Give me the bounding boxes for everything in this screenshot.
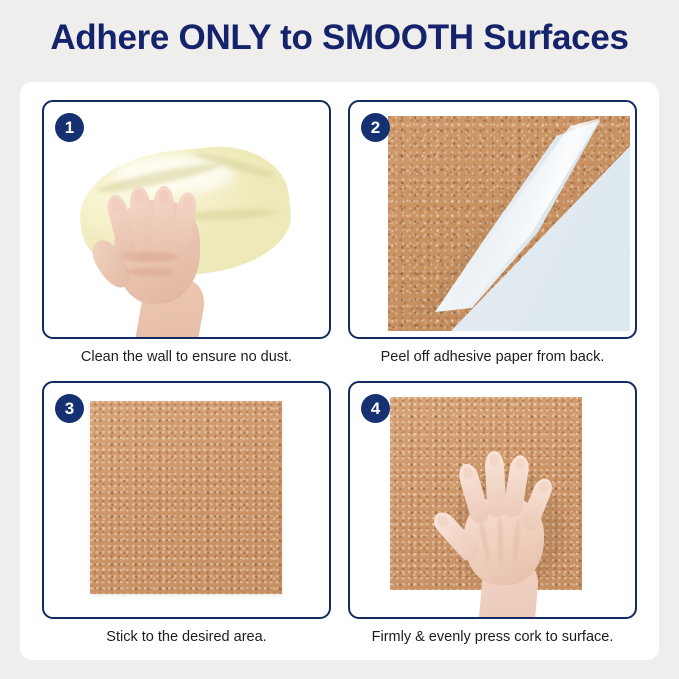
cork-tile (90, 401, 282, 594)
steps-card: 1 (20, 82, 659, 660)
step-1: 1 (42, 100, 331, 365)
step-3-panel: 3 (42, 381, 331, 620)
step-4: 4 (348, 381, 637, 646)
step-4-image (350, 383, 635, 618)
step-4-badge: 4 (361, 394, 390, 423)
step-3-badge: 3 (55, 394, 84, 423)
step-4-panel: 4 (348, 381, 637, 620)
step-2: 2 Peel off adhesive paper from back. (348, 100, 637, 365)
step-3: 3 Stick to the desired area. (42, 381, 331, 646)
page-title: Adhere ONLY to SMOOTH Surfaces (0, 18, 679, 58)
step-3-caption: Stick to the desired area. (42, 619, 331, 645)
instruction-infographic: Adhere ONLY to SMOOTH Surfaces 1 (0, 0, 679, 679)
steps-grid: 1 (42, 100, 637, 645)
hand-icon (442, 445, 574, 613)
step-1-panel: 1 (42, 100, 331, 339)
step-1-caption: Clean the wall to ensure no dust. (42, 339, 331, 365)
knuckle-shading (126, 268, 174, 276)
step-4-caption: Firmly & evenly press cork to surface. (348, 619, 637, 645)
step-2-panel: 2 (348, 100, 637, 339)
step-2-image (350, 102, 635, 337)
knuckle-shading (120, 252, 178, 262)
step-3-image (44, 383, 329, 618)
step-2-badge: 2 (361, 113, 390, 142)
step-2-caption: Peel off adhesive paper from back. (348, 339, 637, 365)
step-1-badge: 1 (55, 113, 84, 142)
cork-sheet (388, 116, 630, 331)
step-1-image (44, 102, 329, 337)
hand-icon (96, 160, 228, 330)
